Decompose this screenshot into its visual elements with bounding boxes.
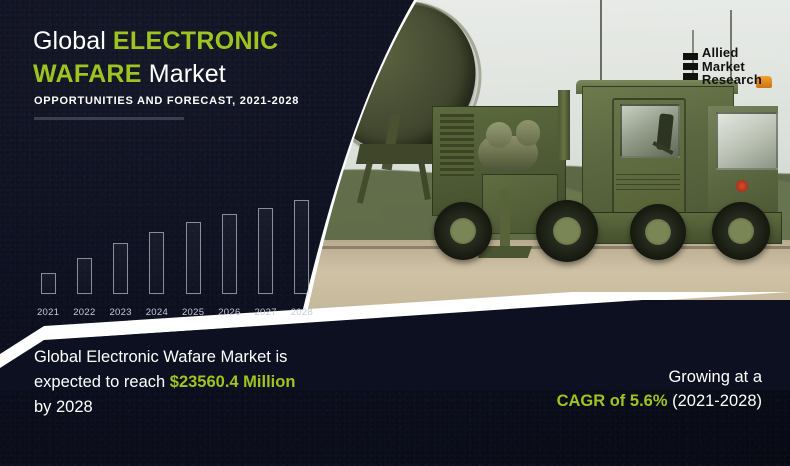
chart-bar-label: 2022 bbox=[66, 307, 102, 318]
infographic-banner: Allied Market Research Global ELECTRONIC… bbox=[0, 0, 790, 466]
chart-bar-label: 2027 bbox=[248, 307, 284, 318]
radar-dish-mount bbox=[356, 144, 436, 164]
cagr-callout: Growing at a CAGR of 5.6% (2021-2028) bbox=[512, 366, 762, 414]
market-forecast-bar-chart: 20212022202320242025202620272028 bbox=[30, 175, 320, 320]
wheel-hub bbox=[728, 218, 754, 244]
title-word-global: Global bbox=[33, 27, 106, 55]
exhaust-stack bbox=[558, 90, 570, 160]
chart-bar-column bbox=[139, 194, 175, 294]
chart-bars bbox=[30, 194, 320, 294]
cagr-line-1: Growing at a bbox=[668, 368, 762, 386]
page-title: Global ELECTRONIC WAFARE Market bbox=[33, 25, 303, 91]
logo-bar-icon bbox=[683, 63, 698, 70]
chart-x-axis-labels: 20212022202320242025202620272028 bbox=[30, 307, 320, 318]
chart-bar-label: 2025 bbox=[175, 307, 211, 318]
logo-text: Allied Market Research bbox=[702, 46, 762, 87]
market-value-callout: Global Electronic Wafare Market is expec… bbox=[34, 345, 354, 419]
logo-line-3: Research bbox=[702, 73, 762, 87]
chart-bar bbox=[113, 243, 128, 294]
chart-bar bbox=[294, 200, 309, 294]
outrigger-jack bbox=[500, 190, 510, 252]
cagr-period: (2021-2028) bbox=[672, 392, 762, 410]
title-word-market: Market bbox=[149, 60, 226, 88]
logo-line-2: Market bbox=[702, 60, 762, 74]
logo-bars bbox=[683, 53, 698, 80]
chart-bar-label: 2021 bbox=[30, 307, 66, 318]
chart-bar-column bbox=[30, 194, 66, 294]
chart-bar-label: 2028 bbox=[284, 307, 320, 318]
wheel-hub bbox=[645, 219, 671, 245]
equipment-grille bbox=[440, 114, 474, 176]
cagr-highlight: CAGR of 5.6% bbox=[557, 392, 668, 410]
logo-bar-icon bbox=[683, 53, 698, 60]
chart-bar-column bbox=[66, 194, 102, 294]
logo-bar-icon bbox=[683, 73, 698, 80]
chart-bar bbox=[222, 214, 237, 294]
callout-left-line-1: Global Electronic Wafare Market is bbox=[34, 348, 287, 366]
chart-bar-label: 2026 bbox=[211, 307, 247, 318]
chart-bar bbox=[41, 273, 56, 294]
wheel-hub bbox=[553, 217, 581, 245]
equipment-cylinder bbox=[486, 122, 512, 148]
truck-windshield bbox=[716, 112, 778, 170]
title-word-electronic: ELECTRONIC bbox=[113, 27, 279, 55]
chart-bar-column bbox=[211, 194, 247, 294]
equipment-cylinder bbox=[516, 120, 540, 146]
chart-bar bbox=[258, 208, 273, 294]
subtitle: OPPORTUNITIES AND FORECAST, 2021-2028 bbox=[34, 95, 299, 107]
wheel-hub bbox=[450, 218, 476, 244]
subtitle-divider bbox=[34, 117, 184, 120]
callout-left-line-3: by 2028 bbox=[34, 398, 93, 416]
callout-left-line-2-pre: expected to reach bbox=[34, 373, 165, 391]
antenna-icon bbox=[600, 0, 602, 88]
chart-bar-column bbox=[248, 194, 284, 294]
title-word-wafare: WAFARE bbox=[33, 60, 142, 88]
chart-bar bbox=[77, 258, 92, 294]
truck-cab-vents bbox=[616, 170, 680, 192]
chart-bar bbox=[186, 222, 201, 294]
chart-bar-label: 2023 bbox=[103, 307, 139, 318]
chart-bar-column bbox=[103, 194, 139, 294]
allied-market-research-logo[interactable]: Allied Market Research bbox=[677, 42, 768, 91]
chart-bar-label: 2024 bbox=[139, 307, 175, 318]
chart-bar bbox=[149, 232, 164, 294]
chart-bar-column bbox=[284, 194, 320, 294]
logo-line-1: Allied bbox=[702, 46, 762, 60]
market-value-highlight: $23560.4 Million bbox=[170, 373, 296, 391]
marker-light bbox=[736, 180, 748, 192]
chart-bar-column bbox=[175, 194, 211, 294]
